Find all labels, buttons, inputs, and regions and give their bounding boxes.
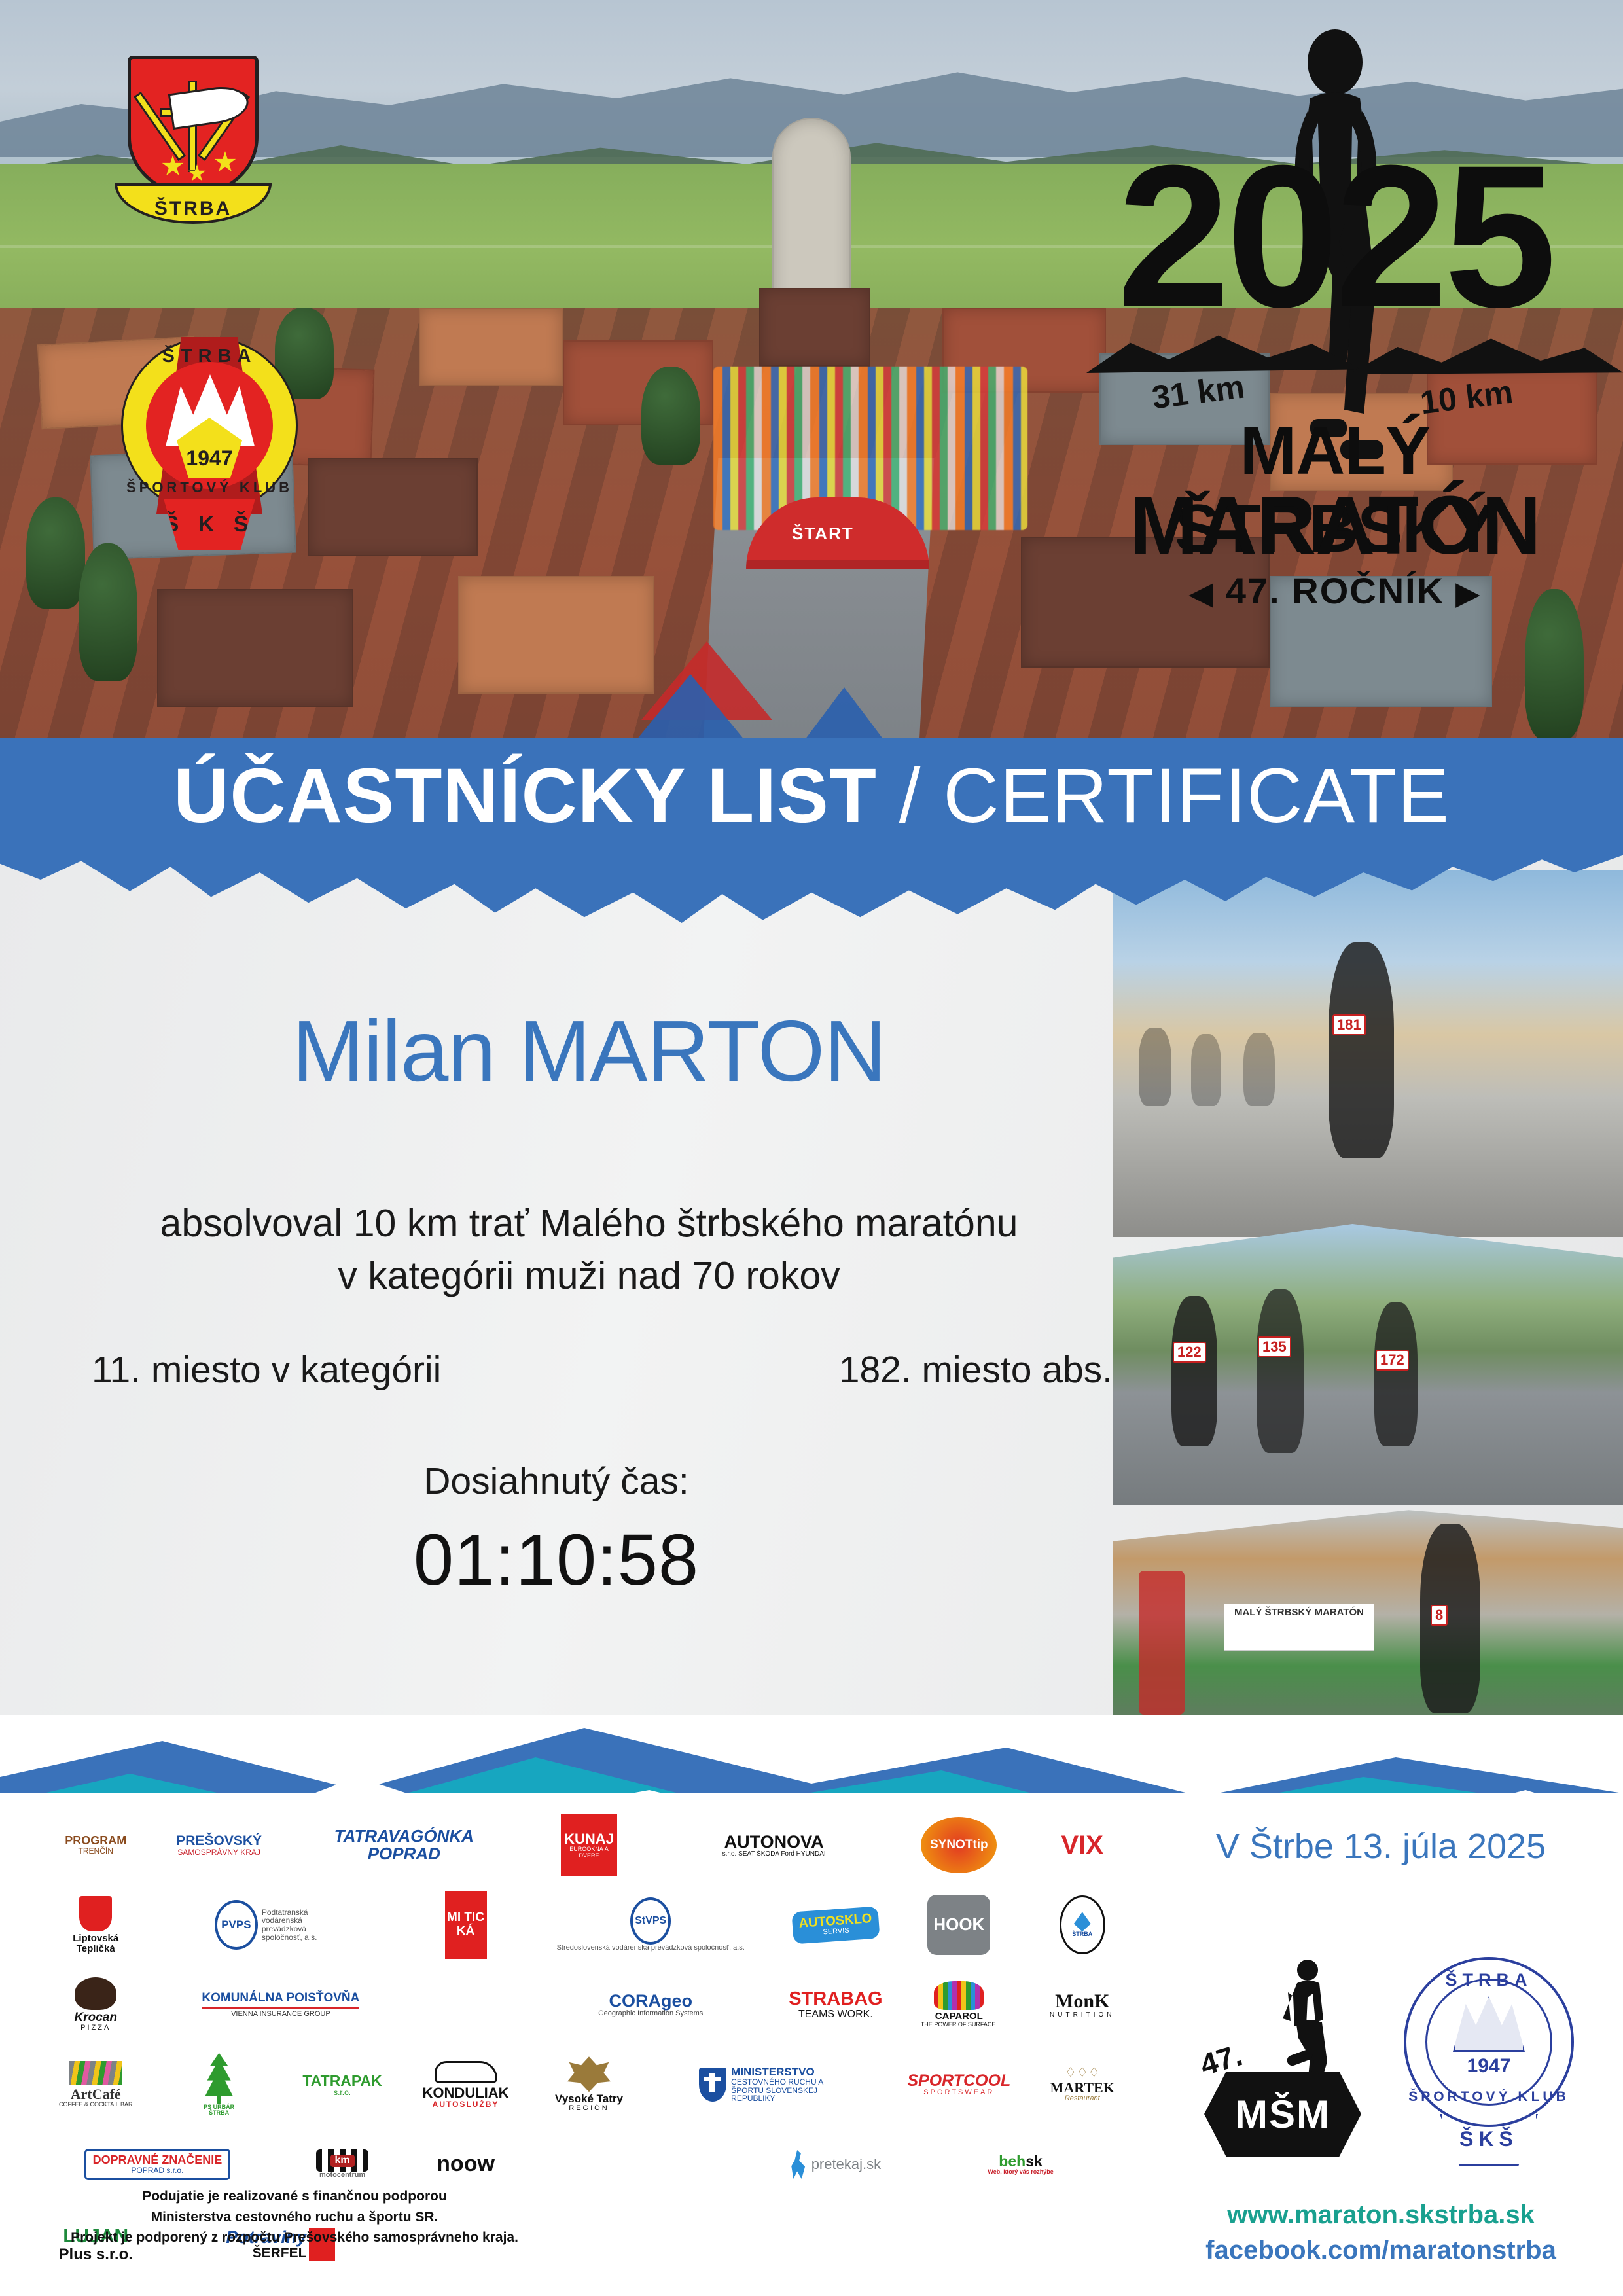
right-arrow-icon: ▶ (1456, 576, 1480, 610)
sponsor-logo (652, 2126, 772, 2203)
sponsor-sub: s.r.o. (302, 2089, 382, 2097)
sponsor-label: AUTONOVA (722, 1833, 826, 1851)
runner-figure (1374, 1302, 1418, 1446)
bib-number: 122 (1173, 1342, 1206, 1363)
photo-finisher-celebrating: 181 (1113, 870, 1623, 1237)
sponsor-logo: MI TIC KÁ (445, 1891, 487, 1959)
absolute-placement: 182. miesto abs. (839, 1348, 1113, 1391)
sponsor-logo: ArtCafé COFFEE & COCKTAIL BAR (36, 2046, 155, 2123)
sponsor-label: StVPS (630, 1897, 671, 1945)
stamp-abbrev-label: ŠKŠ (1459, 2127, 1518, 2151)
sponsor-sub: EUROOKNÁ A DVERE (561, 1846, 617, 1859)
sks-bottom-arc-label: ŠPORTOVÝ KLUB (121, 479, 298, 496)
stamp-year: 1947 (1404, 2055, 1574, 2077)
runner-figure (1329, 942, 1394, 1158)
sponsor-label: Liptovská (73, 1933, 118, 1944)
sponsor-sub: ŠTRBA (203, 2110, 236, 2116)
sponsor-logo: Liptovská Tepličká (36, 1886, 155, 1964)
website-url[interactable]: www.maraton.skstrba.sk (1152, 2200, 1610, 2230)
sponsor-label: KONDULIAK (423, 2085, 509, 2100)
tree (79, 543, 137, 681)
sponsor-logo: behsk Web, ktorý vás rozhýbe (899, 2126, 1142, 2203)
sponsor-sub: ŠERFEL (226, 2246, 306, 2261)
sponsor-sub: TRENČÍN (65, 1847, 126, 1856)
sponsor-label: SYNOTtip (930, 1839, 988, 1852)
sponsor-logo: pretekaj.sk (776, 2126, 895, 2203)
funding-note: Podujatie je realizované s finančnou pod… (39, 2186, 550, 2248)
sponsor-label: CAPAROL (921, 2011, 997, 2022)
sponsor-label: Vysoké Tatry (555, 2093, 623, 2105)
sponsor-sub: Podtatranská vodárenská prevádzková spol… (262, 1909, 347, 1941)
tree (641, 367, 700, 465)
date-and-place: V Štrbe 13. júla 2025 (1152, 1826, 1610, 1867)
sponsor-sub: TEAMS WORK. (789, 2009, 882, 2020)
sks-abbrev-label: Š K Š (164, 512, 255, 537)
sponsor-sub: NUTRITION (1050, 2012, 1115, 2019)
runner-figure (1171, 1296, 1217, 1446)
sponsor-label: STRABAG (789, 1989, 882, 2009)
sponsor-label: pretekaj.sk (811, 2157, 881, 2172)
funding-note-line1: Podujatie je realizované s finančnou pod… (39, 2186, 550, 2207)
funding-note-line3: Projekt je podporený z rozpočtu Prešovsk… (39, 2227, 550, 2248)
sponsor-logo: SPORTCOOL SPORTSWEAR (899, 2046, 1018, 2123)
roof (157, 589, 353, 707)
sponsor-sub: SAMOSPRÁVNY KRAJ (176, 1848, 262, 1857)
sponsor-logo: StVPS Stredoslovenská vodárenská prevádz… (529, 1886, 772, 1964)
sponsor-logo: TATRAVAGÓNKA POPRAD (283, 1806, 526, 1884)
sponsor-logo: PS URBÁR ŠTRBA (159, 2046, 278, 2123)
photo-collage: 181 122 135 172 MALÝ ŠTRBSKÝ MARATÓN 8 (1113, 870, 1623, 1715)
stamp-bottom-label: ŠPORTOVÝ KLUB (1404, 2089, 1574, 2105)
category-placement: 11. miesto v kategórii (92, 1348, 441, 1391)
sponsor-label: DOPRAVNÉ ZNAČENIE (93, 2154, 223, 2166)
placement-row: 11. miesto v kategórii 182. miesto abs. (92, 1348, 1113, 1391)
sponsor-label: ArtCafé (59, 2087, 133, 2102)
mountain-outline-icon (1086, 327, 1361, 373)
sponsor-footer: PROGRAM TRENČÍN PREŠOVSKÝ SAMOSPRÁVNY KR… (0, 1793, 1623, 2296)
msm-badge-label: MŠM (1235, 2092, 1330, 2137)
sponsor-logo: PVPS Podtatranská vodárenská prevádzková… (159, 1886, 402, 1964)
sponsor-label: MonK (1050, 1991, 1115, 2012)
sponsor-label: HOOK (933, 1916, 984, 1933)
bib-number: 181 (1332, 1014, 1366, 1035)
sponsor-logo (406, 1966, 525, 2043)
sponsor-label: CORAgeo (598, 1992, 703, 2010)
sponsor-sub: Web, ktorý vás rozhýbe (988, 2169, 1053, 2175)
sponsor-sub: AUTOSLUŽBY (423, 2100, 509, 2109)
sponsor-label: noow (437, 2153, 495, 2176)
sponsor-label: Krocan (74, 2011, 116, 2024)
funding-note-line2: Ministerstva cestovného ruchu a športu S… (39, 2207, 550, 2228)
sponsor-label: KUNAJ (561, 1831, 617, 1846)
roof (458, 576, 654, 694)
sponsor-logo: CORAgeo Geographic Information Systems (529, 1966, 772, 2043)
time-label: Dosiahnutý čas: (92, 1460, 1021, 1503)
sponsor-logo: KUNAJ EUROOKNÁ A DVERE (561, 1814, 617, 1876)
sponsor-label: PVPS (215, 1900, 258, 1950)
event-edition: ◀ 47. ROČNÍK ▶ (1073, 569, 1597, 612)
event-title-line2: MARATÓN (1073, 478, 1597, 573)
sponsor-logo: MonK NUTRITION (1023, 1966, 1142, 2043)
finish-banner-text: MALÝ ŠTRBSKÝ MARATÓN (1224, 1604, 1374, 1651)
sponsor-sub: Stredoslovenská vodárenská prevádzková s… (557, 1945, 745, 1952)
sponsor-logo: VIX (1023, 1806, 1142, 1884)
description-line-1: absolvoval 10 km trať Malého štrbského m… (79, 1198, 1099, 1250)
photo-runners-on-hill: 122 135 172 (1113, 1224, 1623, 1505)
crest-municipality-label: ŠTRBA (154, 198, 232, 221)
sponsor-label: PROGRAM (65, 1835, 126, 1847)
sponsor-sub: Geographic Information Systems (598, 2010, 703, 2018)
mountain-outline-icon (1348, 329, 1623, 374)
roof (419, 308, 563, 386)
sponsor-logo: AUTOSKLO SERVIS (776, 1886, 895, 1964)
sponsor-sub: VIENNA INSURANCE GROUP (202, 2011, 359, 2018)
left-arrow-icon: ◀ (1190, 576, 1214, 610)
page-title: ÚČASTNÍCKY LIST / CERTIFICATE (173, 757, 1450, 834)
sponsor-sub: THE POWER OF SURFACE. (921, 2022, 997, 2028)
sks-club-logo: ŠTRBA 1947 ŠPORTOVÝ KLUB Š K Š (115, 334, 304, 550)
bib-number: 8 (1431, 1605, 1448, 1626)
sponsor-logo: ♢♢♢ MARTEK Restaurant (1023, 2046, 1142, 2123)
strba-municipality-crest: ŠTRBA (115, 36, 272, 232)
distance-long-label: 31 km (1150, 368, 1247, 417)
spectator (1191, 1034, 1221, 1106)
sponsor-label: VIX (1061, 1831, 1103, 1859)
finish-time: 01:10:58 (92, 1518, 1021, 1602)
sponsor-logo: PROGRAM TRENČÍN (36, 1806, 155, 1884)
sponsor-label: SPORTCOOL (907, 2072, 1010, 2089)
sponsor-logo: HOOK (927, 1895, 990, 1955)
sponsor-sub: ŠTRBA (1072, 1931, 1092, 1937)
sponsor-logo: TATRAPAK s.r.o. (283, 2046, 402, 2123)
sponsor-logo: SYNOTtip (899, 1806, 1018, 1884)
sponsor-logo: CAPAROL THE POWER OF SURFACE. (899, 1966, 1018, 2043)
event-year: 2025 (1073, 157, 1597, 315)
sponsor-label: MARTEK (1050, 2080, 1115, 2095)
footer-right-column: V Štrbe 13. júla 2025 47. MŠM (1152, 1793, 1610, 2296)
tree (26, 497, 85, 609)
msm-badge: MŠM (1204, 2072, 1361, 2157)
sks-tail-banner: Š K Š (164, 499, 255, 550)
sponsor-label: MINISTERSTVO (731, 2066, 849, 2078)
sponsor-logo: STRABAG TEAMS WORK. (776, 1966, 895, 2043)
msm-emblem: 47. MŠM (1198, 1957, 1368, 2173)
sponsor-sub: PIZZA (74, 2024, 116, 2032)
church-roof (759, 288, 870, 367)
sponsor-label: TATRAPAK (302, 2073, 382, 2089)
bib-number: 172 (1376, 1350, 1409, 1371)
roof (308, 458, 478, 556)
start-label: ŠTART (792, 524, 854, 544)
event-logo: 2025 31 km 10 km MALÝ ŠTRBSKÝ MARATÓN ◀ … (1073, 26, 1597, 602)
sponsor-logo: MINISTERSTVO CESTOVNÉHO RUCHU A ŠPORTU S… (652, 2046, 895, 2123)
sks-top-arc-label: ŠTRBA (121, 346, 298, 367)
crest-ribbon: ŠTRBA (115, 183, 272, 224)
church-tower (772, 118, 851, 314)
certificate-page: ŠTART ŠTRBA ŠTRBA 1947 (0, 0, 1623, 2296)
title-normal-part: CERTIFICATE (943, 753, 1450, 839)
title-separator: / (877, 753, 943, 839)
event-edition-label: 47. ROČNÍK (1226, 570, 1444, 611)
certificate-title-banner: ÚČASTNÍCKY LIST / CERTIFICATE (0, 738, 1623, 853)
stamp-ribbon: ŠKŠ (1440, 2114, 1538, 2166)
hero-photo-village: ŠTART ŠTRBA ŠTRBA 1947 (0, 0, 1623, 769)
sponsor-sub-tag: sk (1026, 2153, 1043, 2170)
achievement-description: absolvoval 10 km trať Malého štrbského m… (79, 1198, 1099, 1302)
runner-figure (1257, 1289, 1304, 1453)
distance-badges: 31 km 10 km (1073, 321, 1597, 406)
club-stamp: ŠTRBA 1947 ŠPORTOVÝ KLUB ŠKŠ (1394, 1950, 1584, 2166)
sponsor-label: KOMUNÁLNA POISŤOVŇA (202, 1992, 359, 2005)
bib-number: 135 (1258, 1336, 1291, 1357)
sponsor-sub: Restaurant (1050, 2095, 1115, 2103)
sponsor-sub: Plus s.r.o. (59, 2246, 133, 2263)
sponsor-sub: POPRAD (334, 1845, 474, 1863)
sponsor-label: PREŠOVSKÝ (176, 1834, 262, 1848)
sponsor-sub: POPRAD s.r.o. (93, 2166, 223, 2175)
participant-name: Milan MARTON (105, 1001, 1073, 1100)
sponsor-logo: Vysoké Tatry REGIÓN (529, 2046, 649, 2123)
sponsor-logo: Krocan PIZZA (36, 1966, 155, 2043)
sks-founded-year: 1947 (177, 446, 242, 471)
sponsor-sub: REGIÓN (555, 2105, 623, 2113)
spectator (1243, 1033, 1275, 1106)
facebook-url[interactable]: facebook.com/maratonstrba (1152, 2236, 1610, 2265)
description-line-2: v kategórii muži nad 70 rokov (79, 1250, 1099, 1302)
sponsor-logo: PREŠOVSKÝ SAMOSPRÁVNY KRAJ (159, 1806, 278, 1884)
sponsor-logo: AUTONOVA s.r.o. SEAT ŠKODA Ford HYUNDAI (652, 1806, 895, 1884)
stamp-top-label: ŠTRBA (1404, 1970, 1574, 1990)
sponsor-label: km (330, 2155, 355, 2167)
sponsor-sub: CESTOVNÉHO RUCHU A ŠPORTU SLOVENSKEJ REP… (731, 2078, 849, 2103)
sponsor-label: TATRAVAGÓNKA (334, 1827, 474, 1845)
sponsor-sub: COFFEE & COCKTAIL BAR (59, 2102, 133, 2108)
sponsor-sub: s.r.o. SEAT ŠKODA Ford HYUNDAI (722, 1851, 826, 1858)
sponsor-label: MI TIC KÁ (445, 1911, 487, 1939)
spectator (1139, 1028, 1171, 1106)
sponsor-sub: Tepličká (73, 1944, 118, 1954)
sponsor-logo: ŠTRBA (1023, 1886, 1142, 1964)
title-bold-part: ÚČASTNÍCKY LIST (173, 753, 877, 839)
sponsor-logo: KOMUNÁLNA POISŤOVŇA VIENNA INSURANCE GRO… (159, 1966, 402, 2043)
sponsor-sub: motocentrum (316, 2172, 368, 2179)
sponsor-sub: SPORTSWEAR (907, 2089, 1010, 2097)
sponsor-logo: KONDULIAK AUTOSLUŽBY (406, 2046, 525, 2123)
